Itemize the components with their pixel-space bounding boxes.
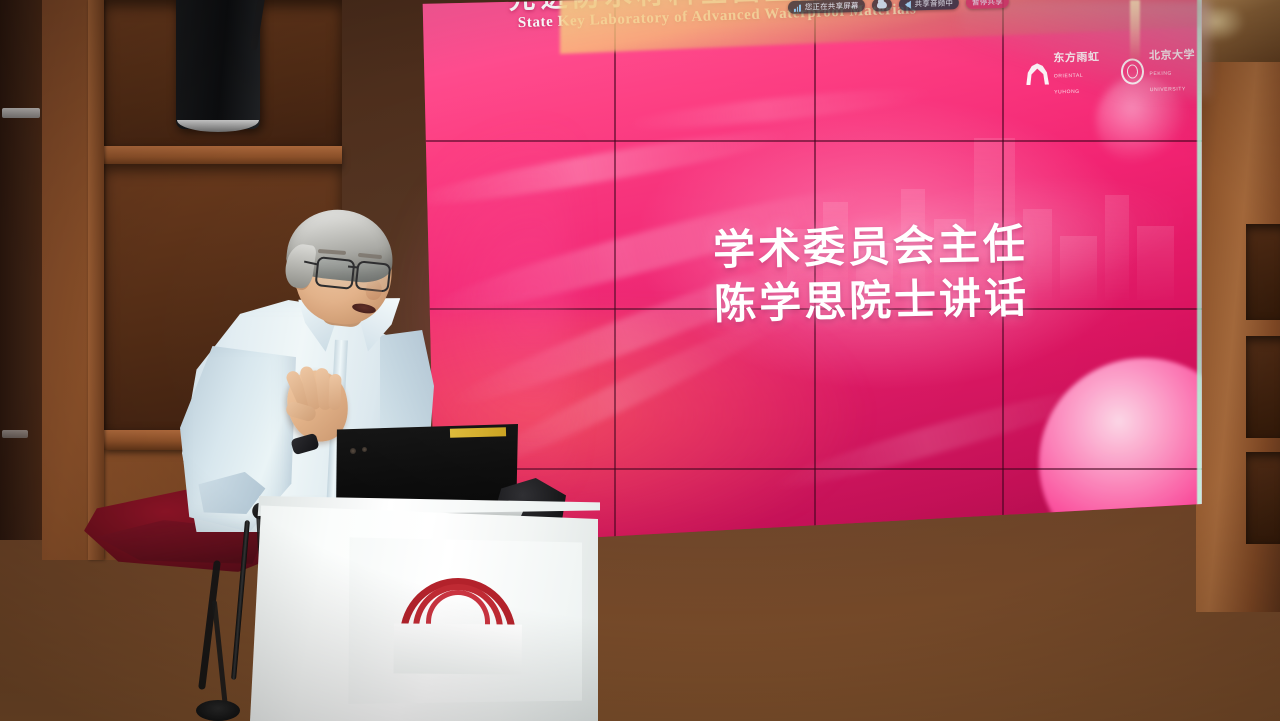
microphone-base bbox=[196, 700, 240, 721]
laptop-lid-mark bbox=[362, 447, 367, 452]
glasses-lens-left-icon bbox=[315, 256, 356, 290]
pillar-highlight bbox=[1130, 0, 1140, 60]
ceiling-reflection-soft bbox=[960, 0, 1210, 98]
cloud-icon bbox=[877, 1, 887, 8]
led-panel-seam bbox=[418, 468, 1202, 470]
status-badge-pause[interactable]: 暂停共享 bbox=[966, 0, 1009, 9]
speaker-icon bbox=[905, 0, 911, 8]
door-handle-lower-icon bbox=[2, 430, 28, 438]
led-panel-seam bbox=[614, 0, 616, 546]
door-handle-icon bbox=[2, 108, 40, 118]
screenshot-stage: 先进防水材料全国重点实验室 State Key Laboratory of Ad… bbox=[0, 0, 1280, 721]
arch-logo-icon bbox=[400, 577, 516, 624]
signal-bars-icon bbox=[794, 3, 801, 11]
laptop-sticker bbox=[450, 427, 506, 438]
arch-mask bbox=[393, 623, 522, 674]
status-badge-audio[interactable]: 共享音频中 bbox=[899, 0, 960, 11]
laptop-lid-mark bbox=[350, 448, 356, 454]
left-dark-wall bbox=[0, 0, 42, 540]
main-title-line-1: 学术委员会主任 bbox=[690, 216, 1051, 277]
cabinet-stile bbox=[88, 0, 104, 560]
status-badge-sharing[interactable]: 您正在共享屏幕 bbox=[788, 0, 865, 14]
status-badge-audio-label: 共享音频中 bbox=[915, 0, 954, 10]
status-badge-cloud[interactable] bbox=[872, 0, 892, 12]
cabinet-shelf-edge bbox=[104, 146, 342, 166]
ceiling-speaker-icon bbox=[176, 0, 260, 129]
led-panel-seam bbox=[418, 140, 1202, 142]
right-wall-niche-2 bbox=[1246, 336, 1280, 438]
main-title: 学术委员会主任 陈学思院士讲话 bbox=[690, 216, 1052, 331]
speaker-finger bbox=[328, 374, 341, 410]
status-badge-sharing-label: 您正在共享屏幕 bbox=[805, 0, 859, 14]
main-title-line-2: 陈学思院士讲话 bbox=[691, 270, 1052, 331]
right-wall-niche-3 bbox=[1246, 452, 1280, 544]
right-wall-niche-1 bbox=[1246, 224, 1280, 320]
podium-logo: 东方雨虹 ORIENTAL YUHONG bbox=[378, 577, 539, 669]
status-badge-pause-label: 暂停共享 bbox=[972, 0, 1003, 9]
